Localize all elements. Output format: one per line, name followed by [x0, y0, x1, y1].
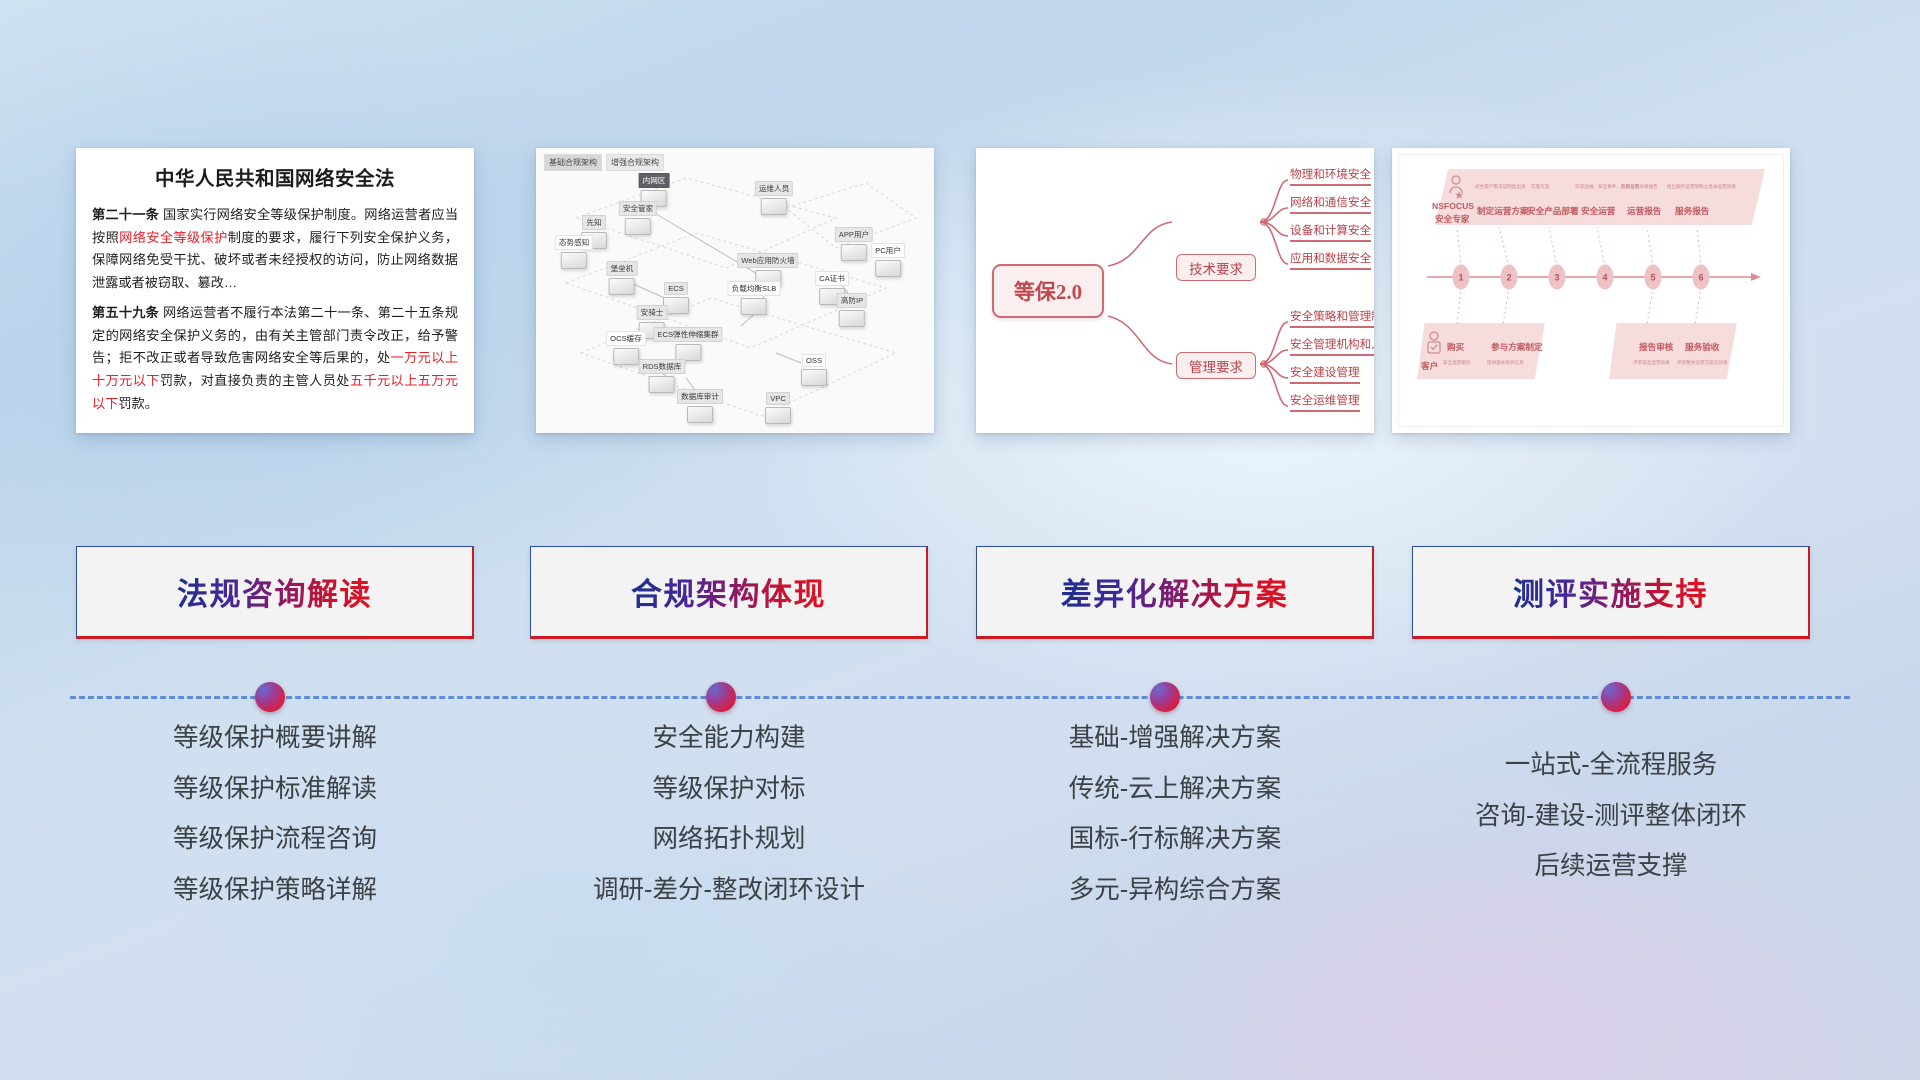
mindmap-branch: 管理要求 — [1176, 352, 1256, 379]
architecture-node: APP用户 — [835, 227, 873, 261]
list-item: 网络拓扑规划 — [530, 827, 928, 853]
list-item: 等级保护标准解读 — [76, 777, 474, 803]
architecture-node-label: OSS — [802, 354, 826, 367]
roadmap-customer-name: 客户 — [1421, 360, 1438, 372]
slide-canvas: 中华人民共和国网络安全法 第二十一条 国家实行网络安全等级保护制度。网络运营者应… — [0, 0, 1920, 1080]
list-item: 传统-云上解决方案 — [976, 777, 1374, 803]
roadmap-step-node[interactable]: 3 — [1549, 265, 1566, 290]
roadmap-step-node[interactable]: 5 — [1645, 265, 1662, 290]
law-text-body: 中华人民共和国网络安全法 第二十一条 国家实行网络安全等级保护制度。网络运营者应… — [76, 148, 474, 433]
roadmap-diagram: NSFOCUS 安全专家 客户 123456制定运营方案结合客户需求说明后出具安… — [1392, 148, 1790, 433]
mindmap-branch: 技术要求 — [1176, 254, 1256, 281]
architecture-node: 高防IP — [837, 293, 867, 327]
roadmap-top-step-title: 运营报告 — [1627, 205, 1661, 217]
mindmap-leaf: 设备和计算安全 — [1290, 222, 1371, 242]
roadmap-bottom-step-sub: 评审整体运营方案化效果 — [1677, 360, 1728, 366]
customer-avatar-icon — [1425, 331, 1443, 357]
bullet-column-1: 等级保护概要讲解 等级保护标准解读 等级保护流程咨询 等级保护策略详解 — [76, 726, 474, 928]
article-59-label: 第五十九条 — [92, 305, 159, 320]
architecture-node: 堡垒机 — [607, 261, 638, 295]
roadmap-top-step-title: 制定运营方案 — [1477, 205, 1529, 217]
article-21-highlight: 网络安全等级保护 — [119, 230, 228, 245]
roadmap-top-step-sub: 阶段运营效果报告 — [1621, 184, 1658, 190]
mindmap-leaf: 安全建设管理 — [1290, 364, 1360, 384]
server-icon — [841, 244, 867, 261]
headline-label-3: 差异化解决方案 — [1061, 569, 1289, 614]
mindmap-leaf: 安全策略和管理制度 — [1290, 308, 1374, 328]
architecture-node: 数据库审计 — [677, 389, 723, 423]
list-item: 等级保护对标 — [530, 777, 928, 803]
law-title: 中华人民共和国网络安全法 — [92, 162, 458, 191]
architecture-node: 态势感知 — [555, 235, 593, 269]
list-item: 多元-异构综合方案 — [976, 878, 1374, 904]
architecture-node-label: 堡垒机 — [607, 261, 638, 276]
card-service-roadmap: NSFOCUS 安全专家 客户 123456制定运营方案结合客户需求说明后出具安… — [1392, 148, 1790, 433]
list-item: 咨询-建设-测评整体闭环 — [1412, 804, 1810, 830]
server-icon — [561, 252, 587, 269]
architecture-node-label: 数据库审计 — [677, 389, 723, 404]
roadmap-bottom-step-title: 参与方案制定 — [1491, 341, 1543, 353]
architecture-node-label: Web应用防火墙 — [737, 253, 798, 268]
card-cloud-architecture: 基础合规架构 增强合规架构 — [536, 148, 934, 433]
mindmap-leaf: 应用和数据安全 — [1290, 250, 1371, 270]
list-item: 基础-增强解决方案 — [976, 726, 1374, 752]
architecture-node-label: VPC — [766, 392, 790, 405]
list-item: 等级保护策略详解 — [76, 878, 474, 904]
mindmap-root-node: 等保2.0 — [992, 264, 1104, 318]
architecture-node-label: 先知 — [582, 215, 605, 230]
list-item: 国标-行标解决方案 — [976, 827, 1374, 853]
article-59-text-b: 罚款，对直接负责的主管人员处 — [160, 373, 350, 388]
law-article-21: 第二十一条 国家实行网络安全等级保护制度。网络运营者应当按照网络安全等级保护制度… — [92, 204, 458, 295]
architecture-node-label: PC用户 — [871, 243, 905, 258]
mindmap-leaf: 网络和通信安全 — [1290, 194, 1371, 214]
list-item: 等级保护概要讲解 — [76, 726, 474, 752]
card-cybersecurity-law: 中华人民共和国网络安全法 第二十一条 国家实行网络安全等级保护制度。网络运营者应… — [76, 148, 474, 433]
list-item: 后续运营支撑 — [1412, 854, 1810, 880]
server-icon — [741, 298, 767, 315]
roadmap-frame: NSFOCUS 安全专家 客户 123456制定运营方案结合客户需求说明后出具安… — [1398, 154, 1784, 427]
timeline-dot-1[interactable] — [255, 682, 285, 712]
bullet-column-3: 基础-增强解决方案 传统-云上解决方案 国标-行标解决方案 多元-异构综合方案 — [976, 726, 1374, 928]
architecture-node-label: OCS缓存 — [606, 331, 646, 346]
roadmap-bottom-step-title: 报告审核 — [1639, 341, 1673, 353]
architecture-node: 安全管家 — [619, 201, 657, 235]
roadmap-step-node[interactable]: 2 — [1501, 265, 1518, 290]
roadmap-expert-sub: 安全专家 — [1435, 213, 1469, 225]
timeline-dot-2[interactable] — [706, 682, 736, 712]
roadmap-expert-name: NSFOCUS — [1432, 201, 1474, 211]
architecture-node-label: 安骑士 — [637, 305, 668, 320]
architecture-node-label: ECS — [664, 282, 688, 295]
architecture-node: 运维人员 — [755, 181, 793, 215]
architecture-node-label: APP用户 — [835, 227, 873, 242]
card-dengbao-mindmap: 等保2.0 技术要求物理和环境安全网络和通信安全设备和计算安全应用和数据安全管理… — [976, 148, 1374, 433]
architecture-node-label: 态势感知 — [555, 235, 593, 250]
timeline-dashed-line — [70, 696, 1850, 699]
headline-label-2: 合规架构体现 — [631, 569, 826, 614]
headline-box-1[interactable]: 法规咨询解读 — [76, 546, 474, 639]
server-icon — [761, 198, 787, 215]
architecture-node: OSS — [801, 354, 827, 386]
server-icon — [613, 348, 639, 365]
bullet-column-4: 一站式-全流程服务 咨询-建设-测评整体闭环 后续运营支撑 — [1412, 726, 1810, 905]
bullet-column-2: 安全能力构建 等级保护对标 网络拓扑规划 调研-差分-整改闭环设计 — [530, 726, 928, 928]
architecture-node: ECS弹性伸缩集群 — [653, 327, 722, 361]
roadmap-bottom-step-title: 购买 — [1447, 341, 1464, 353]
architecture-node-label: 负载均衡SLB — [728, 281, 781, 296]
architecture-node-label: 运维人员 — [755, 181, 793, 196]
architecture-node-label: 内网区 — [639, 173, 670, 188]
headline-box-3[interactable]: 差异化解决方案 — [976, 546, 1374, 639]
roadmap-bottom-step-sub: 安全运营服务 — [1443, 360, 1471, 366]
architecture-node: VPC — [765, 392, 791, 424]
headline-label-1: 法规咨询解读 — [177, 569, 372, 614]
server-icon — [687, 406, 713, 423]
headline-box-4[interactable]: 测评实施支持 — [1412, 546, 1810, 639]
roadmap-step-node[interactable]: 6 — [1693, 265, 1710, 290]
architecture-node: PC用户 — [871, 243, 905, 277]
roadmap-top-step-sub: 结合客户需求说明后出具 — [1475, 184, 1526, 190]
law-article-59: 第五十九条 网络运营者不履行本法第二十一条、第二十五条规定的网络安全保护义务的，… — [92, 302, 458, 416]
mindmap-leaf: 安全运维管理 — [1290, 392, 1360, 412]
server-icon — [609, 278, 635, 295]
roadmap-bottom-step-sub: 评审安全运营效果 — [1633, 360, 1670, 366]
list-item: 安全能力构建 — [530, 726, 928, 752]
headline-row: 法规咨询解读 合规架构体现 差异化解决方案 测评实施支持 — [0, 546, 1920, 644]
server-icon — [875, 260, 901, 277]
headline-label-4: 测评实施支持 — [1513, 569, 1708, 614]
roadmap-top-step-title: 安全产品部署 — [1527, 205, 1579, 217]
illustration-card-row: 中华人民共和国网络安全法 第二十一条 国家实行网络安全等级保护制度。网络运营者应… — [0, 148, 1920, 448]
expert-avatar-icon — [1447, 175, 1465, 199]
server-icon — [765, 407, 791, 424]
timeline — [0, 678, 1920, 718]
architecture-node-label: RDS数据库 — [639, 359, 686, 374]
bullet-column-row: 等级保护概要讲解 等级保护标准解读 等级保护流程咨询 等级保护策略详解 安全能力… — [0, 726, 1920, 976]
mindmap-leaf: 物理和环境安全 — [1290, 166, 1371, 186]
roadmap-step-node[interactable]: 4 — [1597, 265, 1614, 290]
article-59-text-c: 罚款。 — [118, 396, 158, 411]
architecture-diagram: 基础合规架构 增强合规架构 — [536, 148, 934, 433]
architecture-node-label: ECS弹性伸缩集群 — [653, 327, 722, 342]
roadmap-step-node[interactable]: 1 — [1453, 265, 1470, 290]
architecture-node-label: 高防IP — [837, 293, 867, 308]
architecture-node-label: 安全管家 — [619, 201, 657, 216]
roadmap-bottom-step-title: 服务验收 — [1685, 341, 1719, 353]
roadmap-top-step-sub: 实施方案 — [1531, 184, 1549, 190]
architecture-node-label: CA证书 — [815, 271, 849, 286]
mindmap-diagram: 等保2.0 技术要求物理和环境安全网络和通信安全设备和计算安全应用和数据安全管理… — [976, 148, 1374, 433]
mindmap-leaf: 安全管理机构和人员 — [1290, 336, 1374, 356]
timeline-dot-4[interactable] — [1601, 682, 1631, 712]
server-icon — [625, 218, 651, 235]
roadmap-top-step-title: 安全运营 — [1581, 205, 1615, 217]
architecture-node: 负载均衡SLB — [728, 281, 781, 315]
list-item: 等级保护流程咨询 — [76, 827, 474, 853]
roadmap-bottom-step-sub: 提供基本现状信息 — [1487, 360, 1524, 366]
headline-box-2[interactable]: 合规架构体现 — [530, 546, 928, 639]
roadmap-top-step-title: 服务报告 — [1675, 205, 1709, 217]
timeline-dot-3[interactable] — [1150, 682, 1180, 712]
server-icon — [839, 310, 865, 327]
roadmap-top-step-sub: 给出服务运营策略之基本运营效果 — [1667, 184, 1736, 190]
server-icon — [649, 376, 675, 393]
list-item: 一站式-全流程服务 — [1412, 753, 1810, 779]
list-item: 调研-差分-整改闭环设计 — [530, 878, 928, 904]
server-icon — [801, 369, 827, 386]
article-21-label: 第二十一条 — [92, 207, 159, 222]
architecture-node: RDS数据库 — [639, 359, 686, 393]
